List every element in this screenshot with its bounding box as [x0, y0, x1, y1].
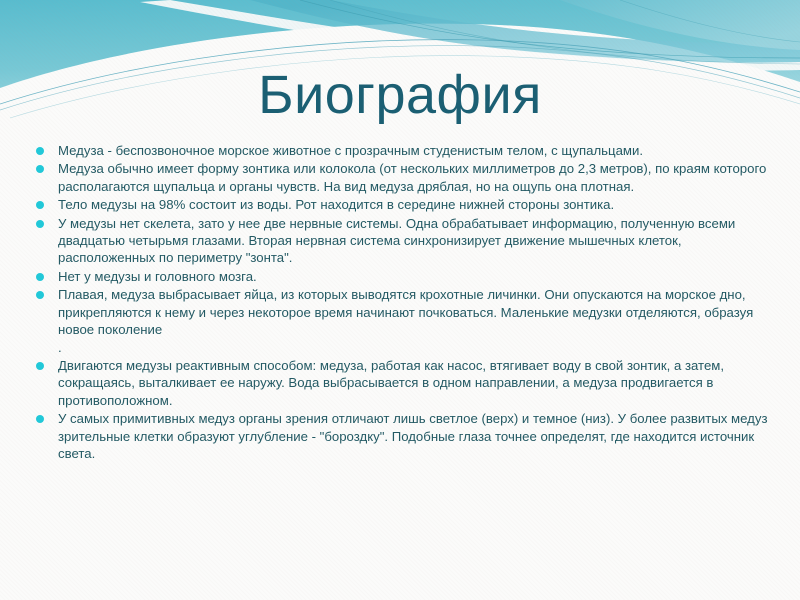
slide-title: Биография — [0, 66, 800, 124]
list-item: У самых примитивных медуз органы зрения … — [28, 410, 780, 462]
bullet-dot-icon — [36, 220, 44, 228]
list-item: Нет у медузы и головного мозга. — [28, 268, 780, 285]
list-item: Медуза обычно имеет форму зонтика или ко… — [28, 160, 780, 195]
list-item-text: Тело медузы на 98% состоит из воды. Рот … — [58, 196, 780, 213]
bullet-dot-icon — [36, 147, 44, 155]
list-item-text: Медуза - беспозвоночное морское животное… — [58, 142, 780, 159]
list-item-text: Нет у медузы и головного мозга. — [58, 268, 780, 285]
bullet-dot-icon — [36, 291, 44, 299]
list-item-text: Плавая, медуза выбрасывает яйца, из кото… — [58, 286, 780, 338]
list-item: Двигаются медузы реактивным способом: ме… — [28, 357, 780, 409]
bullet-dot-icon — [36, 201, 44, 209]
list-item: Плавая, медуза выбрасывает яйца, из кото… — [28, 286, 780, 338]
list-item: Тело медузы на 98% состоит из воды. Рот … — [28, 196, 780, 213]
list-item-text: У медузы нет скелета, зато у нее две нер… — [58, 215, 780, 267]
list-item: Медуза - беспозвоночное морское животное… — [28, 142, 780, 159]
slide-body-content: Медуза - беспозвоночное морское животное… — [28, 142, 780, 463]
list-item: У медузы нет скелета, зато у нее две нер… — [28, 215, 780, 267]
list-item-text: Двигаются медузы реактивным способом: ме… — [58, 357, 780, 409]
bullet-dot-icon — [36, 362, 44, 370]
list-item-text: Медуза обычно имеет форму зонтика или ко… — [58, 160, 780, 195]
orphan-period-line: . — [28, 339, 780, 356]
bullet-dot-icon — [36, 273, 44, 281]
list-item-text: У самых примитивных медуз органы зрения … — [58, 410, 780, 462]
bullet-dot-icon — [36, 415, 44, 423]
bullet-dot-icon — [36, 165, 44, 173]
presentation-slide: Биография Медуза - беспозвоночное морско… — [0, 0, 800, 600]
